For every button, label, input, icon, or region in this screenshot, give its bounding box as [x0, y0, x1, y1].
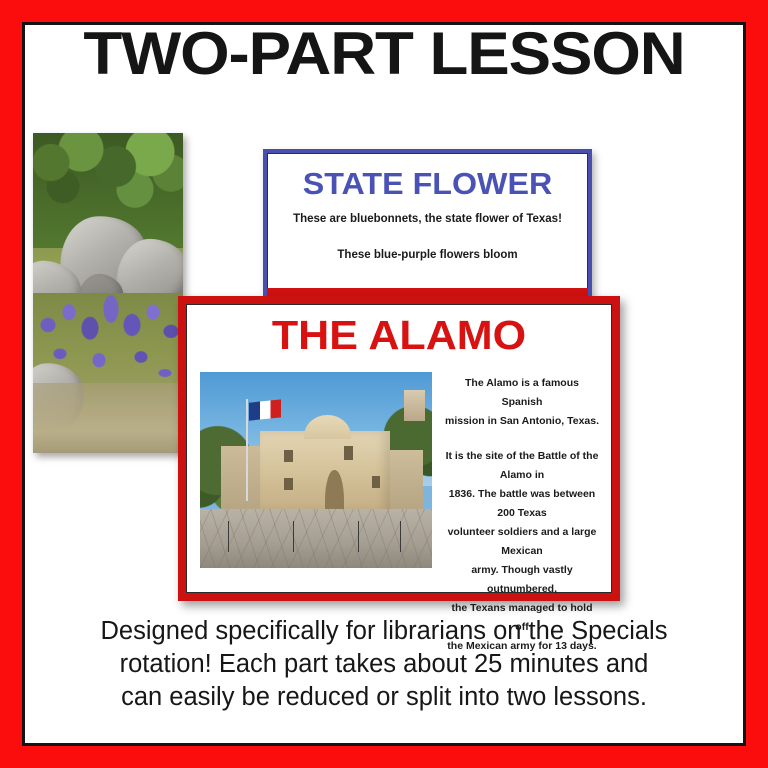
state-flower-title: STATE FLOWER	[261, 167, 595, 201]
the-alamo-slide[interactable]: THE ALAMO	[178, 296, 620, 601]
the-alamo-body: The Alamo is a famous Spanish mission in…	[194, 372, 604, 587]
state-flower-text-line2: These blue-purple flowers bloom	[277, 248, 578, 262]
photo-mission-window	[284, 478, 293, 490]
product-cover-page: TWO-PART LESSON STATE FLOWER These are b…	[0, 0, 768, 768]
alamo-p2-line4: army. Though vastly outnumbered,	[444, 561, 600, 599]
alamo-p1-line2: mission in San Antonio, Texas.	[444, 412, 600, 431]
caption-line1: Designed specifically for librarians on …	[46, 615, 722, 648]
alamo-mission-photo	[200, 372, 432, 568]
photo-mission-window	[372, 476, 380, 488]
caption-block: Designed specifically for librarians on …	[46, 615, 722, 714]
photo-soil-layer	[33, 383, 183, 453]
photo-fence-post	[400, 521, 402, 552]
state-flower-slide[interactable]: STATE FLOWER These are bluebonnets, the …	[263, 149, 592, 301]
alamo-p2-line1: It is the site of the Battle of the Alam…	[444, 447, 600, 485]
alamo-p1-line1: The Alamo is a famous Spanish	[444, 374, 600, 412]
photo-fence-post	[358, 521, 360, 552]
photo-mission-window	[344, 446, 353, 460]
alamo-p2-line2: 1836. The battle was between 200 Texas	[444, 485, 600, 523]
photo-background-tower	[404, 390, 425, 421]
photo-flagpole	[246, 399, 248, 501]
alamo-p2-line3: volunteer soldiers and a large Mexican	[444, 523, 600, 561]
page-title: TWO-PART LESSON	[0, 22, 768, 86]
photo-stone-plaza	[200, 509, 432, 568]
caption-line3: can easily be reduced or split into two …	[46, 681, 722, 714]
bluebonnet-field-photo	[33, 133, 183, 453]
the-alamo-title: THE ALAMO	[175, 312, 622, 358]
caption-line2: rotation! Each part takes about 25 minut…	[46, 648, 722, 681]
the-alamo-text: The Alamo is a famous Spanish mission in…	[432, 372, 604, 587]
photo-fence-post	[293, 521, 295, 552]
photo-mission-window	[284, 450, 293, 462]
state-flower-text-line1: These are bluebonnets, the state flower …	[277, 212, 578, 226]
paragraph-spacer	[444, 431, 600, 447]
photo-fence-post	[228, 521, 230, 552]
